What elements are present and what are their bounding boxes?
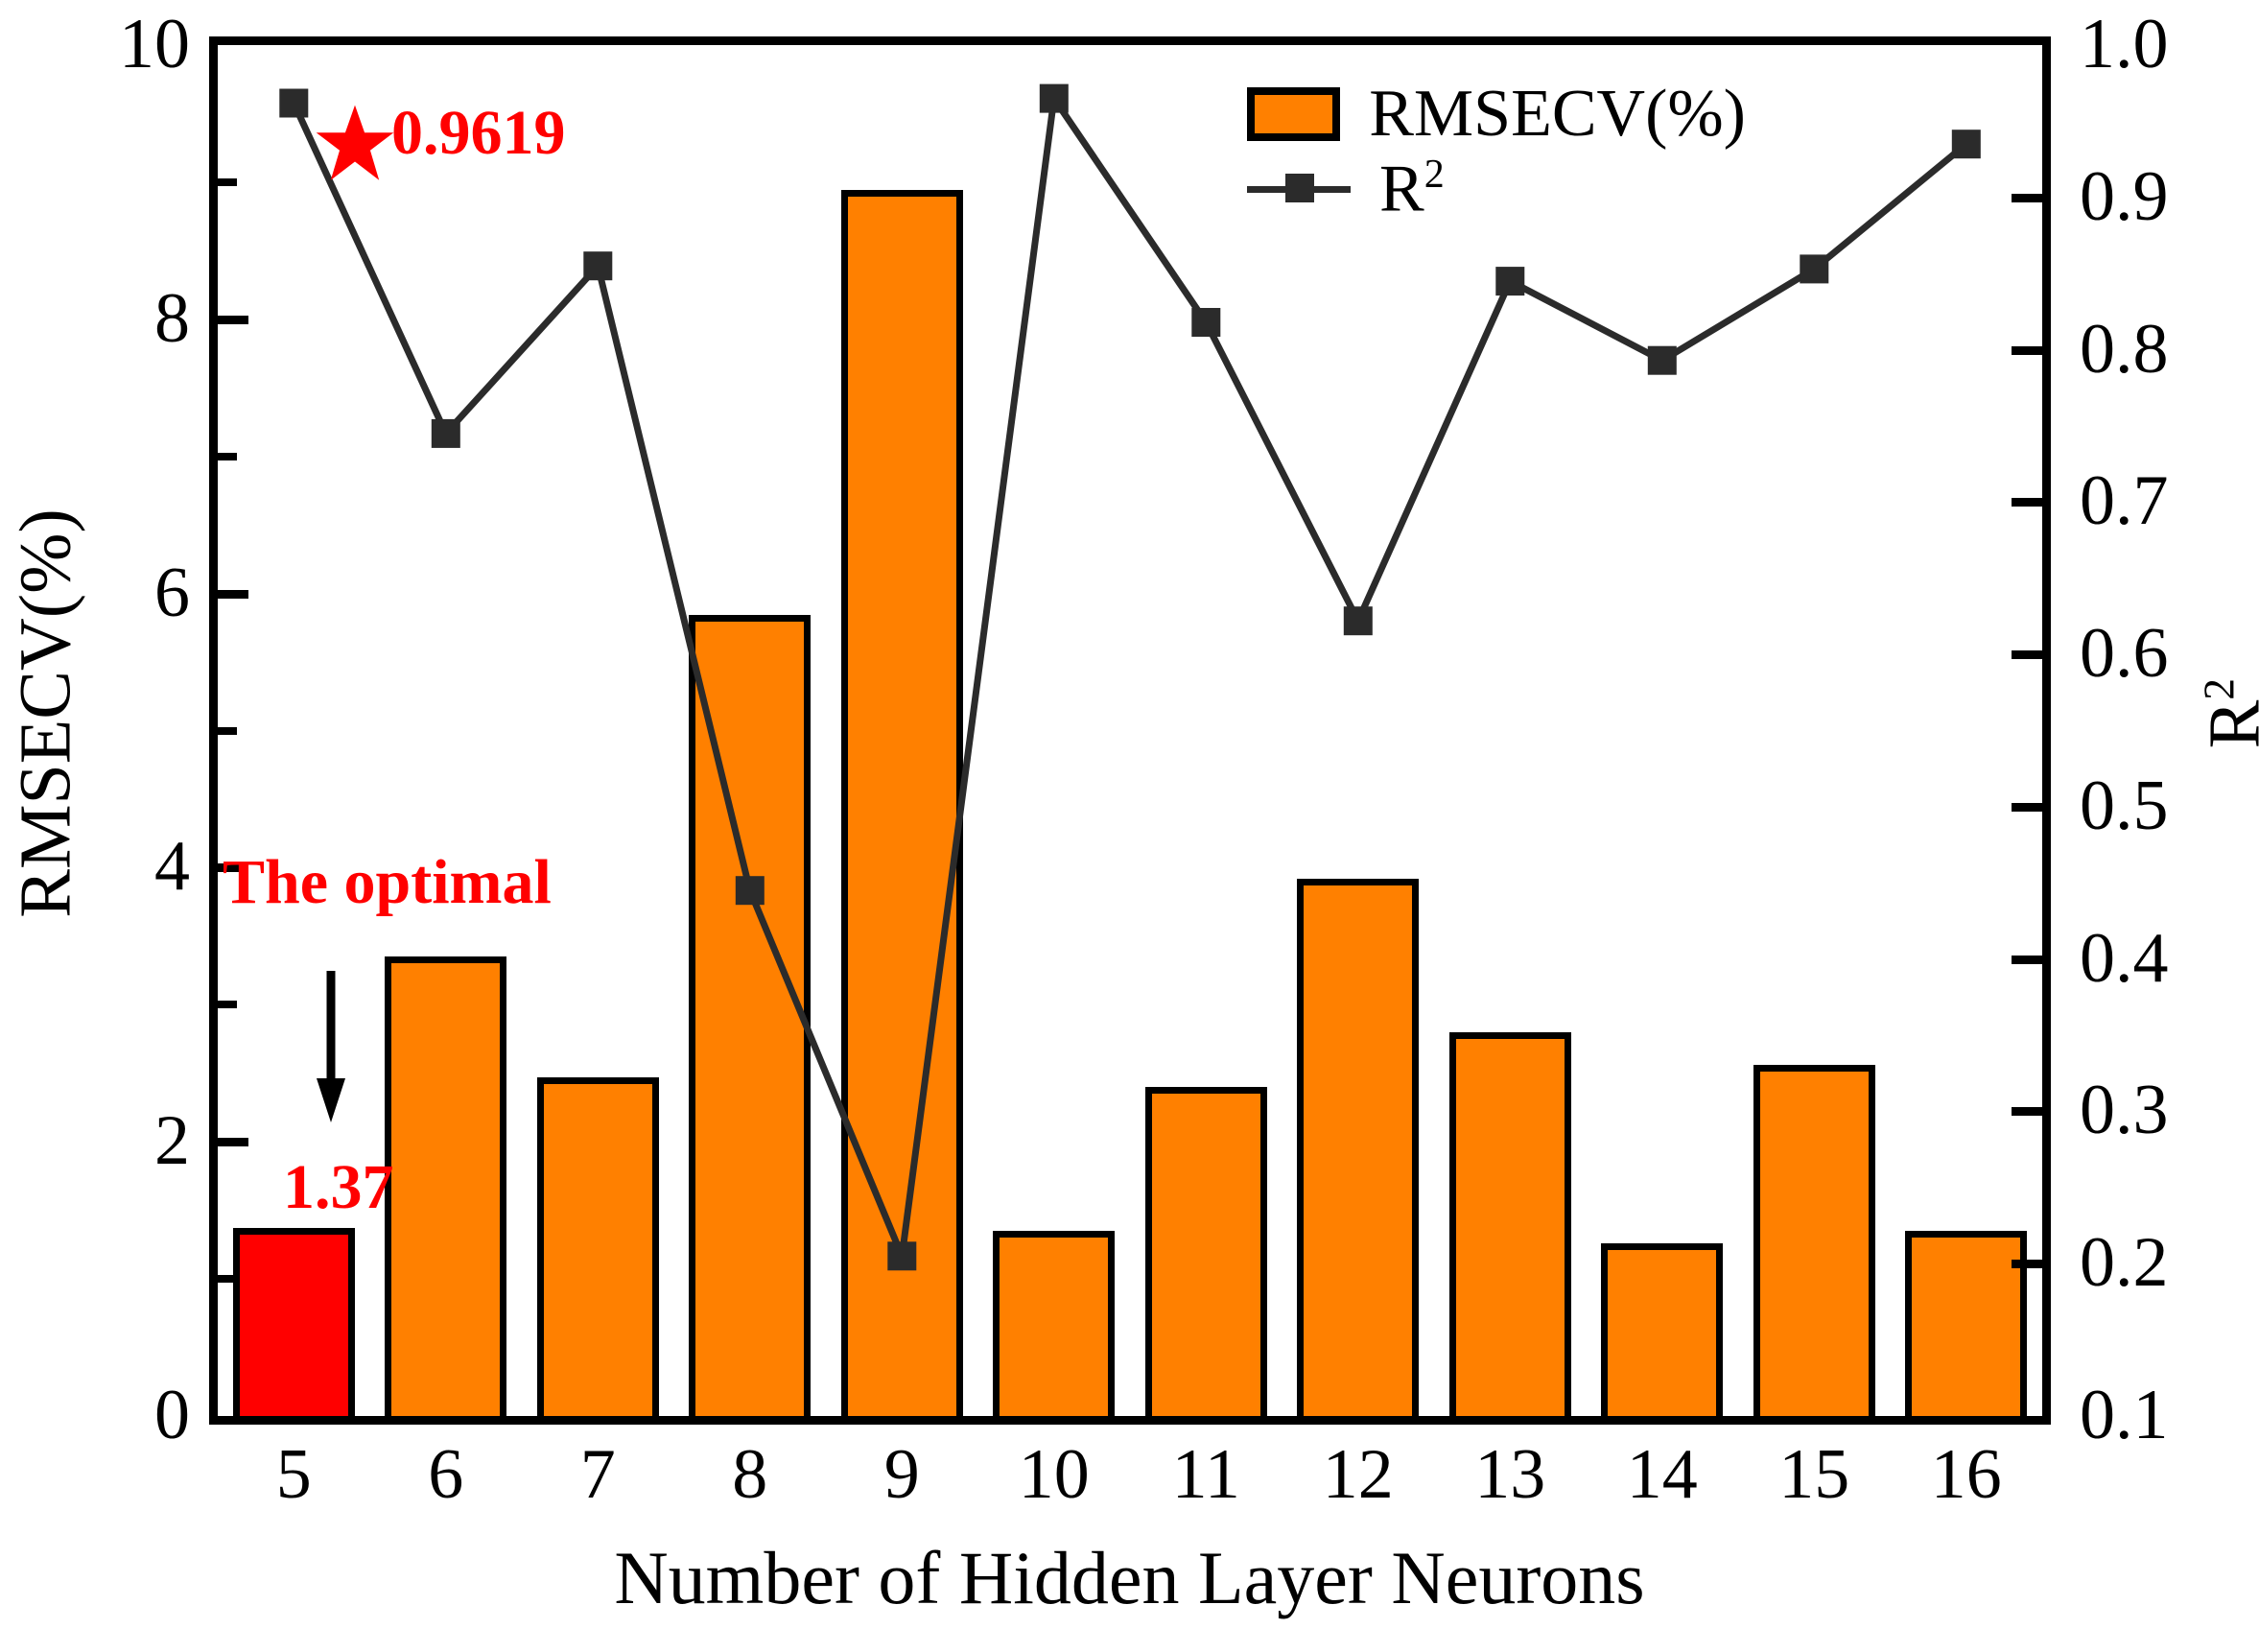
y-tick-mark xyxy=(218,1138,248,1146)
x-tick-label-13: 13 xyxy=(1433,1439,1587,1510)
r2-marker-10[interactable] xyxy=(1040,84,1069,113)
y2-tick-mark xyxy=(2012,346,2042,355)
x-tick-label-11: 11 xyxy=(1129,1439,1282,1510)
r2-polyline xyxy=(294,99,1966,1257)
x-tick-label-15: 15 xyxy=(1737,1439,1891,1510)
x-tick-label-10: 10 xyxy=(977,1439,1131,1510)
star-r2-annotation: 0.9619 xyxy=(391,102,566,165)
y2-tick-mark xyxy=(2012,650,2042,659)
y-tick-label-8: 8 xyxy=(46,283,190,354)
red-star-icon xyxy=(315,104,395,184)
r2-marker-13[interactable] xyxy=(1495,267,1524,295)
y2-tick-label-0.8: 0.8 xyxy=(2080,314,2259,385)
x-tick-label-12: 12 xyxy=(1282,1439,1435,1510)
r2-marker-5[interactable] xyxy=(279,89,308,118)
y-tick-label-4: 4 xyxy=(46,831,190,902)
y2-tick-label-0.7: 0.7 xyxy=(2080,465,2259,536)
legend-swatch-line-square-icon xyxy=(1247,162,1351,216)
r2-marker-15[interactable] xyxy=(1800,254,1828,283)
y2-tick-label-1.0: 1.0 xyxy=(2080,9,2259,80)
y2-tick-label-0.6: 0.6 xyxy=(2080,618,2259,689)
y-tick-label-0: 0 xyxy=(46,1380,190,1451)
y2-tick-label-0.5: 0.5 xyxy=(2080,770,2259,841)
y-minor-tick-mark xyxy=(218,1001,237,1008)
r2-marker-7[interactable] xyxy=(583,251,612,280)
r2-marker-14[interactable] xyxy=(1648,346,1677,375)
y2-tick-mark xyxy=(2012,956,2042,964)
y-tick-label-6: 6 xyxy=(46,557,190,628)
chart-figure: RMSECV(%) R2 Number of Hidden Layer Neur… xyxy=(0,0,2259,1652)
y-minor-tick-mark xyxy=(218,1275,237,1283)
y2-tick-mark xyxy=(2012,1107,2042,1116)
y2-tick-mark xyxy=(2012,194,2042,202)
r2-marker-11[interactable] xyxy=(1191,308,1220,337)
chart-legend: RMSECV(%) R2 xyxy=(1247,77,1746,226)
legend-label-rmsecv: RMSECV(%) xyxy=(1369,81,1746,148)
y-tick-mark xyxy=(218,316,248,324)
r2-marker-8[interactable] xyxy=(736,876,765,905)
y2-tick-label-0.3: 0.3 xyxy=(2080,1074,2259,1145)
x-tick-label-7: 7 xyxy=(521,1439,674,1510)
x-tick-label-5: 5 xyxy=(217,1439,370,1510)
x-tick-label-6: 6 xyxy=(369,1439,523,1510)
x-tick-label-14: 14 xyxy=(1586,1439,1739,1510)
y-minor-tick-mark xyxy=(218,453,237,460)
y2-tick-label-0.9: 0.9 xyxy=(2080,161,2259,232)
y2-tick-mark xyxy=(2012,803,2042,812)
r2-marker-6[interactable] xyxy=(432,419,460,448)
y2-tick-mark xyxy=(2012,498,2042,507)
y-minor-tick-mark xyxy=(218,178,237,186)
optimal-annotation-label: The optimal xyxy=(223,851,552,914)
legend-swatch-bar-icon xyxy=(1247,87,1340,141)
r2-marker-16[interactable] xyxy=(1952,130,1981,158)
plot-area xyxy=(209,36,2051,1425)
y-minor-tick-mark xyxy=(218,727,237,735)
x-axis-title: Number of Hidden Layer Neurons xyxy=(0,1535,2259,1621)
r2-line-series xyxy=(218,45,2042,1416)
r2-marker-12[interactable] xyxy=(1344,606,1373,635)
y-tick-label-10: 10 xyxy=(46,9,190,80)
secondary-y-axis-title: R2 xyxy=(2193,474,2259,954)
r2-marker-9[interactable] xyxy=(887,1241,916,1270)
y2-tick-label-0.1: 0.1 xyxy=(2080,1380,2259,1451)
optimal-arrow-icon xyxy=(312,971,350,1124)
y-axis-title: RMSECV(%) xyxy=(5,330,88,1097)
y-tick-label-2: 2 xyxy=(46,1105,190,1176)
legend-item-r2: R2 xyxy=(1247,152,1746,226)
x-tick-label-9: 9 xyxy=(825,1439,978,1510)
y2-tick-label-0.4: 0.4 xyxy=(2080,923,2259,994)
x-tick-label-8: 8 xyxy=(673,1439,827,1510)
optimal-bar-value-annotation: 1.37 xyxy=(283,1156,394,1219)
y-tick-mark xyxy=(218,590,248,599)
legend-item-rmsecv: RMSECV(%) xyxy=(1247,77,1746,152)
y2-tick-label-0.2: 0.2 xyxy=(2080,1227,2259,1298)
x-tick-label-16: 16 xyxy=(1890,1439,2043,1510)
legend-label-r2: R2 xyxy=(1379,154,1445,223)
y2-tick-mark xyxy=(2012,1260,2042,1268)
